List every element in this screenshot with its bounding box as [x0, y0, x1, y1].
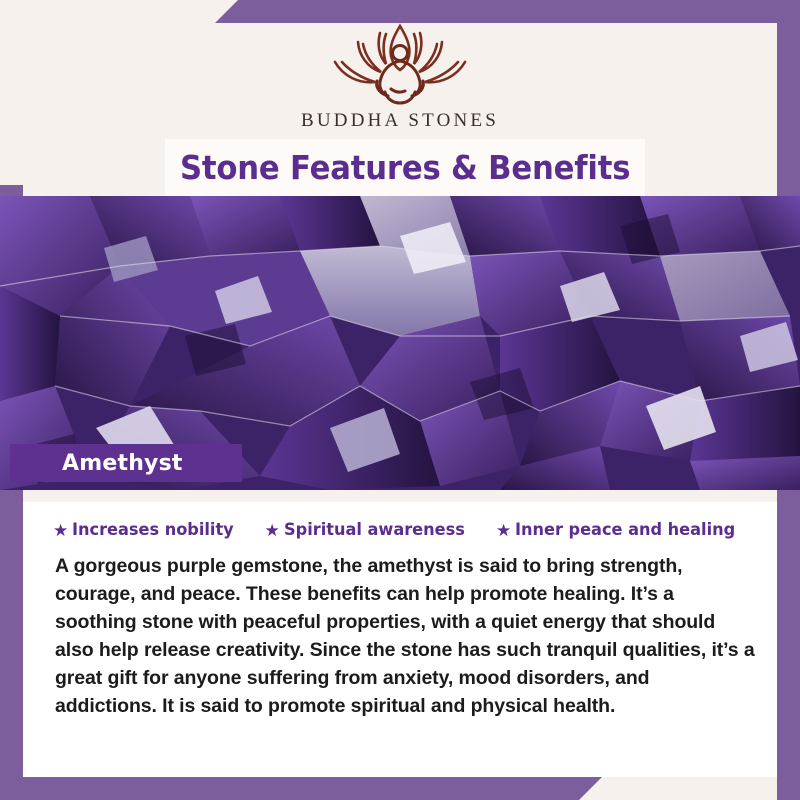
content-card: ★ Increases nobility ★ Spiritual awarene… [23, 502, 777, 777]
stone-name-banner: Amethyst [10, 444, 242, 482]
brand-name: BUDDHA STONES [301, 110, 499, 132]
feature-label: Increases nobility [72, 520, 234, 540]
decorative-band-bottom [0, 777, 602, 800]
stone-name: Amethyst [62, 451, 183, 476]
feature-item-3: ★ Inner peace and healing [496, 520, 747, 540]
infographic-page: BUDDHA STONES Stone Features & Benefits [0, 0, 800, 800]
feature-item-2: ★ Spiritual awareness [264, 520, 474, 540]
brand-header: BUDDHA STONES [23, 0, 777, 140]
lotus-meditation-figure-icon [325, 20, 475, 108]
star-icon: ★ [53, 522, 68, 539]
feature-label: Inner peace and healing [515, 520, 735, 540]
feature-label: Spiritual awareness [284, 520, 465, 540]
star-icon: ★ [496, 522, 511, 539]
page-title: Stone Features & Benefits [180, 148, 630, 187]
stone-description: A gorgeous purple gemstone, the amethyst… [55, 552, 755, 720]
title-banner: Stone Features & Benefits [165, 139, 645, 196]
amethyst-photo: Amethyst [0, 196, 800, 490]
feature-item-1: ★ Increases nobility [53, 520, 242, 540]
feature-list: ★ Increases nobility ★ Spiritual awarene… [37, 512, 763, 548]
star-icon: ★ [264, 522, 279, 539]
